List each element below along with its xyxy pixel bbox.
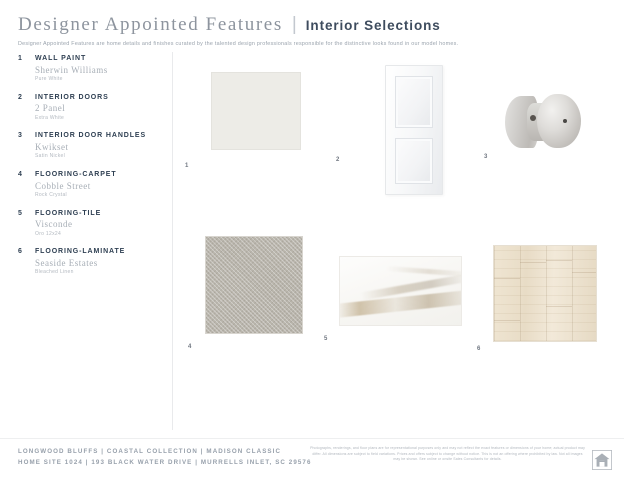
list-item-brand: 2 Panel bbox=[35, 104, 168, 113]
list-item-brand: Sherwin Williams bbox=[35, 66, 168, 75]
list-item: 3 INTERIOR DOOR HANDLES Kwikset Satin Ni… bbox=[18, 132, 168, 159]
swatch-label-6: 6 bbox=[477, 346, 481, 352]
equal-housing-opportunity-icon bbox=[592, 450, 612, 470]
list-item-brand: Seaside Estates bbox=[35, 259, 168, 268]
list-item-detail: Extra White bbox=[35, 115, 168, 121]
plank-seam bbox=[494, 278, 520, 279]
door-knob-image bbox=[505, 92, 581, 152]
list-item-category: FLOORING-LAMINATE bbox=[35, 248, 168, 256]
tile-swatch-image bbox=[339, 256, 462, 326]
list-item-brand: Kwikset bbox=[35, 143, 168, 152]
swatch-label-2: 2 bbox=[336, 157, 340, 163]
list-item-category: FLOORING-CARPET bbox=[35, 171, 168, 179]
tile-vein bbox=[339, 290, 462, 318]
tile-vein bbox=[386, 266, 462, 277]
list-item-number: 6 bbox=[18, 248, 22, 255]
list-item-number: 4 bbox=[18, 171, 22, 178]
list-item: 4 FLOORING-CARPET Cobble Street Rock Cry… bbox=[18, 171, 168, 198]
knob-screw bbox=[530, 115, 536, 121]
swatch-label-5: 5 bbox=[324, 336, 328, 342]
list-item-category: INTERIOR DOORS bbox=[35, 94, 168, 102]
list-item: 6 FLOORING-LAMINATE Seaside Estates Blea… bbox=[18, 248, 168, 275]
plank-seam bbox=[546, 260, 572, 261]
list-item-number: 2 bbox=[18, 94, 22, 101]
list-item-detail: Pure White bbox=[35, 76, 168, 82]
laminate-swatch-image bbox=[493, 245, 597, 342]
door-image bbox=[385, 65, 443, 195]
door-panel-bottom bbox=[395, 138, 433, 184]
list-item-detail: Oro 12x24 bbox=[35, 231, 168, 237]
swatch-label-3: 3 bbox=[484, 154, 488, 160]
list-item: 2 INTERIOR DOORS 2 Panel Extra White bbox=[18, 94, 168, 121]
list-item-detail: Bleached Linen bbox=[35, 269, 168, 275]
list-item: 5 FLOORING-TILE Visconde Oro 12x24 bbox=[18, 210, 168, 237]
list-item-detail: Satin Nickel bbox=[35, 153, 168, 159]
list-item-category: WALL PAINT bbox=[35, 55, 168, 63]
list-item-number: 5 bbox=[18, 210, 22, 217]
plank-seam bbox=[572, 272, 597, 273]
list-item-brand: Visconde bbox=[35, 220, 168, 229]
list-item-category: FLOORING-TILE bbox=[35, 210, 168, 218]
footer-community-info: LONGWOOD BLUFFS | COASTAL COLLECTION | M… bbox=[18, 447, 312, 469]
list-item-brand: Cobble Street bbox=[35, 182, 168, 191]
selections-legend-list: 1 WALL PAINT Sherwin Williams Pure White… bbox=[18, 55, 168, 287]
door-panel-top bbox=[395, 76, 433, 128]
page-subtitle: Designer Appointed Features are home det… bbox=[18, 41, 606, 48]
swatch-label-1: 1 bbox=[185, 163, 189, 169]
list-item-detail: Rock Crystal bbox=[35, 192, 168, 198]
plank-seam bbox=[494, 320, 520, 321]
list-item-number: 1 bbox=[18, 55, 22, 62]
plank-seam bbox=[520, 262, 546, 263]
page-title-main: Designer Appointed Features bbox=[18, 14, 283, 36]
list-item-category: INTERIOR DOOR HANDLES bbox=[35, 132, 168, 140]
plank-seam bbox=[546, 306, 572, 307]
footer-address-line: HOME SITE 1024 | 193 BLACK WATER DRIVE |… bbox=[18, 458, 312, 469]
footer-divider bbox=[0, 438, 624, 439]
swatch-label-4: 4 bbox=[188, 344, 192, 350]
footer-community-line: LONGWOOD BLUFFS | COASTAL COLLECTION | M… bbox=[18, 447, 312, 458]
header: Designer Appointed Features | Interior S… bbox=[18, 14, 606, 48]
list-item: 1 WALL PAINT Sherwin Williams Pure White bbox=[18, 55, 168, 82]
carpet-swatch-image bbox=[205, 236, 303, 334]
knob-keyhole bbox=[563, 119, 567, 123]
page-title-sub: Interior Selections bbox=[306, 18, 441, 33]
list-item-number: 3 bbox=[18, 132, 22, 139]
designer-features-sheet: Designer Appointed Features | Interior S… bbox=[0, 0, 624, 480]
footer-disclaimer: Photographs, renderings, and floor plans… bbox=[310, 446, 585, 463]
page-title: Designer Appointed Features | Interior S… bbox=[18, 14, 606, 36]
title-separator: | bbox=[292, 14, 297, 36]
paint-swatch-image bbox=[211, 72, 301, 150]
vertical-divider bbox=[172, 52, 173, 430]
knob-ball bbox=[537, 94, 581, 148]
